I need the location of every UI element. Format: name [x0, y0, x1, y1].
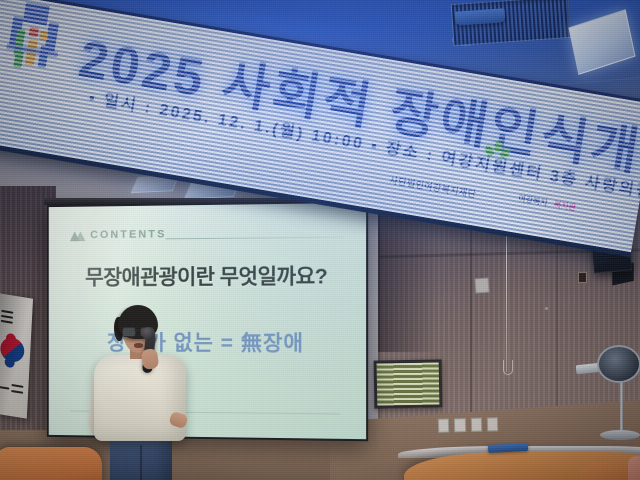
foreground-chair-left: [0, 447, 102, 480]
people-celebration-pixel-logo-icon: [0, 0, 76, 85]
wall-outlet[interactable]: [487, 417, 499, 431]
slide-header-rule: [165, 237, 344, 240]
fan-base: [600, 430, 640, 440]
wall-outlet[interactable]: [438, 418, 450, 432]
slide-question-text: 무장애관광이란 무엇일까요?: [49, 260, 366, 292]
wall-nail: [545, 307, 548, 310]
wall-outlet[interactable]: [470, 418, 482, 432]
presenter-sweatshirt: [94, 355, 186, 441]
led-banner-mini-logo-1: 여강복지: [517, 193, 548, 209]
wall-plate: [474, 278, 489, 294]
led-banner-mini-logo-2: 복지관: [553, 199, 577, 214]
wall-switch[interactable]: [578, 272, 587, 283]
electric-fan-icon[interactable]: [597, 345, 640, 383]
presenter-hand-holding-mic: [141, 348, 160, 370]
microphone-head: [142, 327, 155, 340]
wall-outlet[interactable]: [454, 418, 466, 432]
screen-pull-cord[interactable]: [506, 226, 507, 372]
foreground-chair-right: [628, 456, 640, 480]
presenter-mouth: [134, 343, 143, 348]
window: [374, 359, 443, 408]
wall-outlet-row[interactable]: [438, 417, 498, 431]
presenter: [86, 305, 202, 480]
window-blinds: [377, 362, 440, 405]
presenter-leg-seam: [140, 445, 142, 480]
leaf-sprout-icon: [485, 139, 514, 163]
slide-section-label: CONTENTS: [90, 228, 166, 241]
screen-pull-cord-loop[interactable]: [503, 360, 513, 375]
seminar-room-photo: CONTENTS 무장애관광이란 무엇일까요? 장애가 없는 = 無장애: [0, 0, 640, 480]
led-banner-organizer: 사단법인여강복지재단: [389, 173, 478, 200]
slide-section-header: CONTENTS: [70, 228, 167, 241]
mountain-triangle-icon: [70, 230, 85, 241]
